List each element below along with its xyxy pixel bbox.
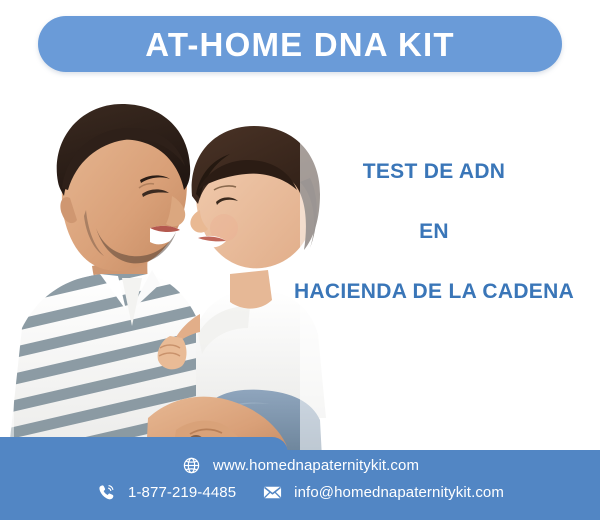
poster-canvas: AT-HOME DNA KIT bbox=[0, 0, 600, 520]
page-title: AT-HOME DNA KIT bbox=[145, 28, 454, 61]
envelope-icon bbox=[262, 482, 283, 503]
website-text: www.homednapaternitykit.com bbox=[213, 457, 419, 474]
phone-icon bbox=[96, 482, 117, 503]
header-banner: AT-HOME DNA KIT bbox=[38, 16, 562, 72]
footer-row-website: www.homednapaternitykit.com bbox=[181, 455, 419, 476]
headline-line-1: TEST DE ADN bbox=[268, 160, 600, 183]
headline-block: TEST DE ADN EN HACIENDA DE LA CADENA bbox=[268, 160, 600, 303]
phone-contact[interactable]: 1-877-219-4485 bbox=[96, 482, 236, 503]
headline-line-2: EN bbox=[268, 220, 600, 243]
footer-content: www.homednapaternitykit.com 1-877-219-44… bbox=[0, 437, 600, 520]
footer-contact-bar: www.homednapaternitykit.com 1-877-219-44… bbox=[0, 433, 600, 520]
globe-icon bbox=[181, 455, 202, 476]
footer-row-phone-email: 1-877-219-4485 info@homednapaternitykit.… bbox=[96, 482, 504, 503]
phone-text: 1-877-219-4485 bbox=[128, 484, 236, 501]
email-text: info@homednapaternitykit.com bbox=[294, 484, 504, 501]
website-contact[interactable]: www.homednapaternitykit.com bbox=[181, 455, 419, 476]
email-contact[interactable]: info@homednapaternitykit.com bbox=[262, 482, 504, 503]
headline-line-3: HACIENDA DE LA CADENA bbox=[268, 280, 600, 303]
